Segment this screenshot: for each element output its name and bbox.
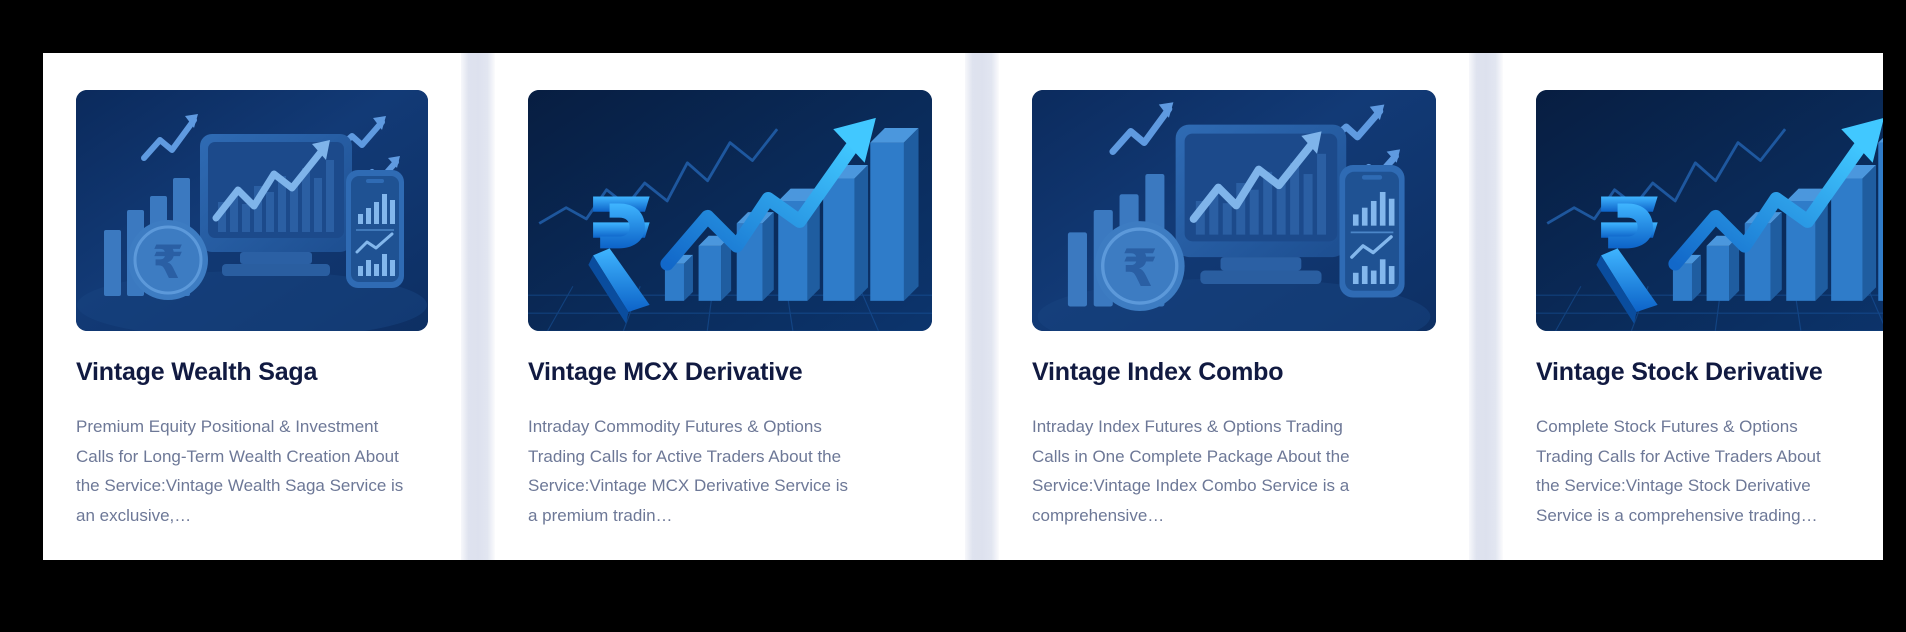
service-card-description: Intraday Commodity Futures & Options Tra… — [528, 412, 858, 530]
page-root: ₹ Vintage Wealth Saga Premium Equity Pos… — [0, 0, 1906, 632]
svg-text:₹: ₹ — [152, 235, 184, 289]
rupee-bar-chart-arrow-illustration-icon — [528, 90, 932, 331]
service-card[interactable]: Vintage MCX Derivative Intraday Commodit… — [495, 53, 965, 560]
devices-growth-illustration-icon: ₹ — [1032, 90, 1436, 331]
service-card[interactable]: ₹ Vintage Wealth Saga Premium Equity Pos… — [43, 53, 461, 560]
carousel-seam — [461, 53, 495, 560]
carousel-seam — [1469, 53, 1503, 560]
service-card-thumbnail: ₹ — [76, 90, 428, 331]
service-card-title: Vintage MCX Derivative — [528, 357, 932, 387]
service-card-description: Intraday Index Futures & Options Trading… — [1032, 412, 1362, 530]
devices-growth-illustration-icon: ₹ — [76, 90, 428, 331]
svg-text:₹: ₹ — [1122, 239, 1158, 299]
service-card-thumbnail: ₹ — [1032, 90, 1436, 331]
service-card[interactable]: Vintage Stock Derivative Complete Stock … — [1503, 53, 1883, 560]
rupee-bar-chart-arrow-illustration-icon — [1536, 90, 1883, 331]
carousel-seam — [965, 53, 999, 560]
service-card-thumbnail — [1536, 90, 1883, 331]
service-card-title: Vintage Wealth Saga — [76, 357, 428, 387]
service-card-title: Vintage Stock Derivative — [1536, 357, 1883, 387]
service-card-thumbnail — [528, 90, 932, 331]
service-card-description: Premium Equity Positional & Investment C… — [76, 412, 406, 530]
service-card-title: Vintage Index Combo — [1032, 357, 1436, 387]
content-surface: ₹ Vintage Wealth Saga Premium Equity Pos… — [43, 53, 1883, 560]
service-card[interactable]: ₹ Vintage Index Combo Intraday Index Fut… — [999, 53, 1469, 560]
service-card-description: Complete Stock Futures & Options Trading… — [1536, 412, 1848, 530]
service-card-carousel[interactable]: ₹ Vintage Wealth Saga Premium Equity Pos… — [43, 53, 1883, 560]
